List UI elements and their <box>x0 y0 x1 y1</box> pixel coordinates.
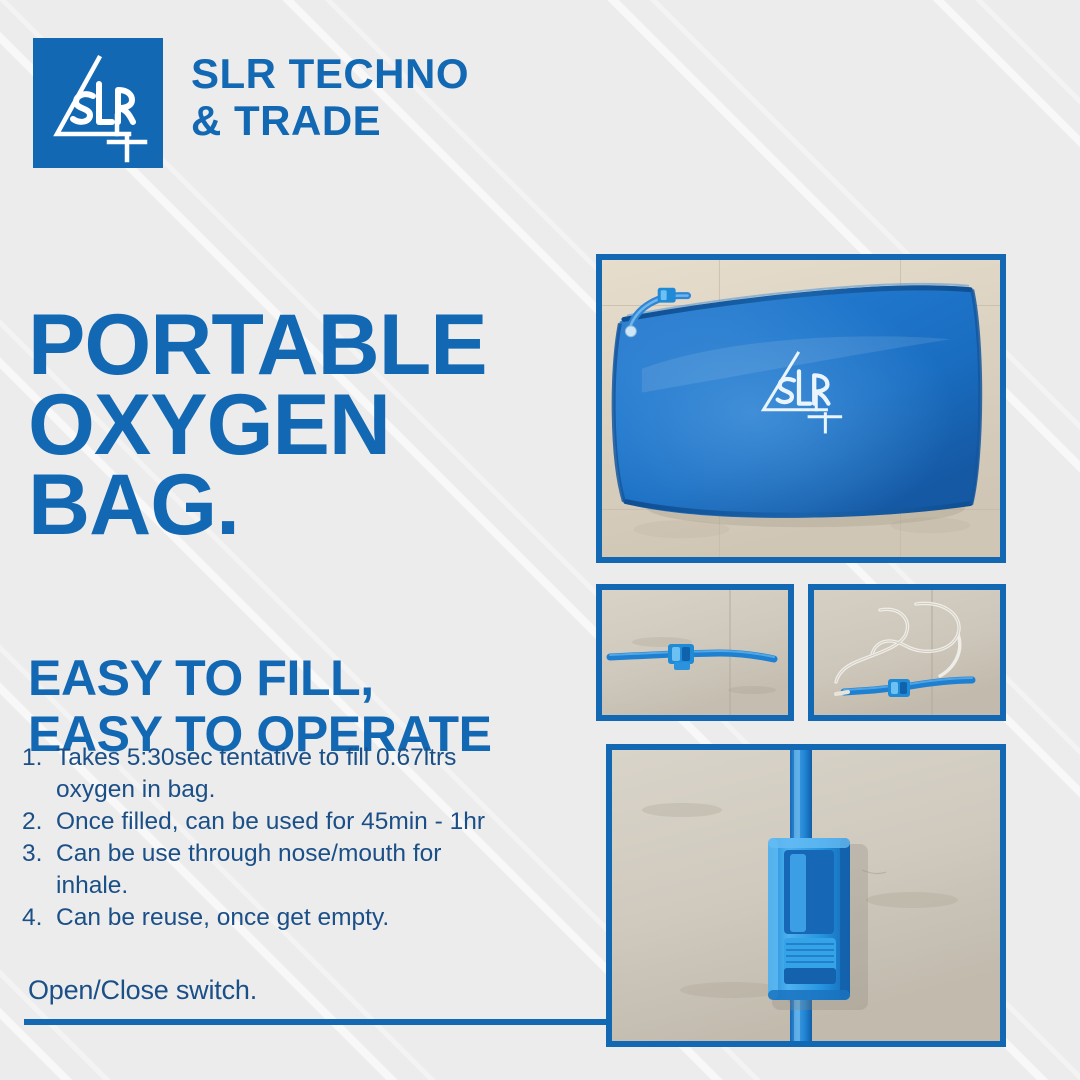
feature-list: 1. Takes 5:30sec tentative to fill 0.67l… <box>22 742 502 935</box>
list-item-number: 2. <box>22 806 56 838</box>
subheading-line-1: EASY TO FILL, <box>28 650 492 706</box>
caption-pointer-line <box>24 1019 606 1025</box>
switch-caption: Open/Close switch. <box>28 975 257 1006</box>
list-item-label: Can be reuse, once get empty. <box>56 902 502 934</box>
list-item: 3. Can be use through nose/mouth for inh… <box>22 838 502 902</box>
page-title: PORTABLE OXYGEN BAG. <box>28 306 487 546</box>
poster: SLR TECHNO & TRADE PORTABLE OXYGEN BAG. … <box>0 0 1080 1080</box>
headline-line-3: BAG. <box>28 466 487 546</box>
nasal-cannula-photo <box>808 584 1006 721</box>
list-item-number: 1. <box>22 742 56 774</box>
list-item: 2. Once filled, can be used for 45min - … <box>22 806 502 838</box>
portable-oxygen-bag-photo <box>596 254 1006 563</box>
brand-name-line-2: & TRADE <box>191 97 469 144</box>
brand-name: SLR TECHNO & TRADE <box>191 50 469 144</box>
list-item-number: 4. <box>22 902 56 934</box>
headline-line-1: PORTABLE <box>28 306 487 386</box>
list-item: 1. Takes 5:30sec tentative to fill 0.67l… <box>22 742 502 806</box>
brand-name-line-1: SLR TECHNO <box>191 50 469 97</box>
list-item: 4. Can be reuse, once get empty. <box>22 902 502 934</box>
list-item-number: 3. <box>22 838 56 870</box>
slr-triangle-logo-icon <box>33 38 163 168</box>
list-item-label: Takes 5:30sec tentative to fill 0.67ltrs… <box>56 742 502 806</box>
switch-closeup-photo <box>606 744 1006 1047</box>
brand-logo: SLR TECHNO & TRADE <box>33 38 469 168</box>
list-item-label: Can be use through nose/mouth for inhale… <box>56 838 502 902</box>
headline-line-2: OXYGEN <box>28 386 487 466</box>
tube-with-switch-photo <box>596 584 794 721</box>
list-item-label: Once filled, can be used for 45min - 1hr <box>56 806 502 838</box>
